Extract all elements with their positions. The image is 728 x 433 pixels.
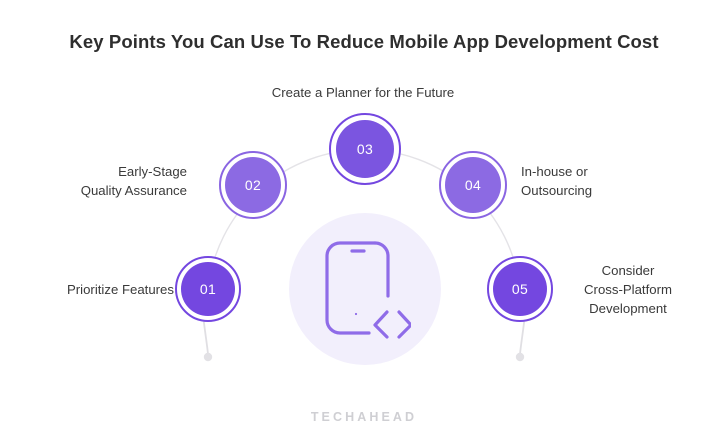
node-01-disc: 01: [181, 262, 235, 316]
node-05-number: 05: [512, 282, 528, 296]
page-title: Key Points You Can Use To Reduce Mobile …: [0, 31, 728, 53]
node-02-label: Early-Stage Quality Assurance: [52, 162, 187, 200]
stem-left-dot: [204, 353, 212, 361]
node-02-disc: 02: [225, 157, 281, 213]
node-01-label-line-1: Prioritize Features: [14, 280, 174, 299]
node-02-label-line-2: Quality Assurance: [52, 181, 187, 200]
node-03-label: Create a Planner for the Future: [223, 83, 503, 102]
mobile-app-code-icon: [325, 240, 411, 340]
node-03-disc: 03: [336, 120, 394, 178]
node-04-disc: 04: [445, 157, 501, 213]
node-03-label-line-1: Create a Planner for the Future: [223, 83, 503, 102]
node-01-label: Prioritize Features: [14, 280, 174, 299]
node-02-label-line-1: Early-Stage: [52, 162, 187, 181]
node-04[interactable]: 04: [439, 151, 507, 219]
node-05-label-line-3: Development: [553, 299, 703, 318]
stem-right-dot: [516, 353, 524, 361]
node-05[interactable]: 05: [487, 256, 553, 322]
node-05-label: Consider Cross-Platform Development: [553, 261, 703, 318]
node-04-number: 04: [465, 178, 481, 192]
node-05-label-line-2: Cross-Platform: [553, 280, 703, 299]
node-02[interactable]: 02: [219, 151, 287, 219]
brand-wordmark: TECHAHEAD: [0, 410, 728, 424]
node-03[interactable]: 03: [329, 113, 401, 185]
node-05-label-line-1: Consider: [553, 261, 703, 280]
node-01[interactable]: 01: [175, 256, 241, 322]
node-04-label: In-house or Outsourcing: [521, 162, 681, 200]
node-04-label-line-1: In-house or: [521, 162, 681, 181]
infographic-canvas: Key Points You Can Use To Reduce Mobile …: [0, 0, 728, 433]
node-03-number: 03: [357, 142, 373, 156]
node-05-disc: 05: [493, 262, 547, 316]
node-02-number: 02: [245, 178, 261, 192]
node-04-label-line-2: Outsourcing: [521, 181, 681, 200]
node-01-number: 01: [200, 282, 216, 296]
